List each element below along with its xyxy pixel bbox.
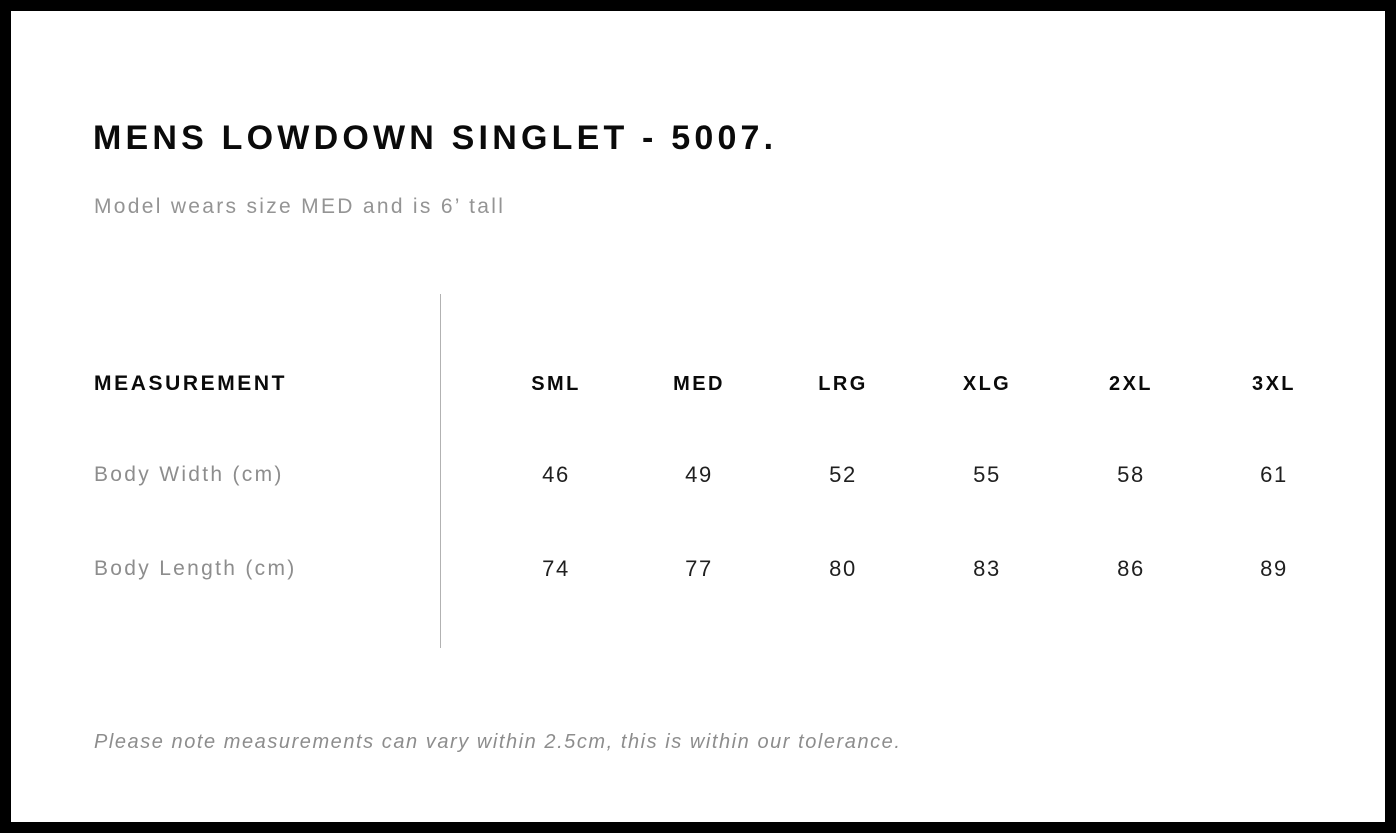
cell-body-length-xlg: 83 xyxy=(926,549,1046,589)
tolerance-footnote: Please note measurements can vary within… xyxy=(94,727,901,757)
column-header-lrg: LRG xyxy=(782,364,902,404)
cell-body-width-lrg: 52 xyxy=(782,455,902,495)
table-row: Body Length (cm) 74 77 80 83 86 89 xyxy=(11,549,1385,589)
column-header-measurement: MEASUREMENT xyxy=(94,364,287,404)
cell-body-length-sml: 74 xyxy=(495,549,615,589)
table-row: Body Width (cm) 46 49 52 55 58 61 xyxy=(11,455,1385,495)
row-label-body-length: Body Length (cm) xyxy=(94,549,297,589)
cell-body-width-sml: 46 xyxy=(495,455,615,495)
column-header-sml: SML xyxy=(495,364,615,404)
page-inner: MENS LOWDOWN SINGLET - 5007. Model wears… xyxy=(11,11,1385,822)
column-header-med: MED xyxy=(638,364,758,404)
size-chart-table: MEASUREMENT SML MED LRG XLG 2XL 3XL Body… xyxy=(11,11,1385,822)
size-chart-page: MENS LOWDOWN SINGLET - 5007. Model wears… xyxy=(0,0,1396,833)
cell-body-width-xlg: 55 xyxy=(926,455,1046,495)
table-header-row: MEASUREMENT SML MED LRG XLG 2XL 3XL xyxy=(11,364,1385,404)
column-header-3xl: 3XL xyxy=(1213,364,1333,404)
row-label-body-width: Body Width (cm) xyxy=(94,455,284,495)
cell-body-width-med: 49 xyxy=(638,455,758,495)
cell-body-length-med: 77 xyxy=(638,549,758,589)
cell-body-length-lrg: 80 xyxy=(782,549,902,589)
column-header-xlg: XLG xyxy=(926,364,1046,404)
cell-body-length-3xl: 89 xyxy=(1213,549,1333,589)
cell-body-length-2xl: 86 xyxy=(1070,549,1190,589)
cell-body-width-3xl: 61 xyxy=(1213,455,1333,495)
column-header-2xl: 2XL xyxy=(1070,364,1190,404)
cell-body-width-2xl: 58 xyxy=(1070,455,1190,495)
